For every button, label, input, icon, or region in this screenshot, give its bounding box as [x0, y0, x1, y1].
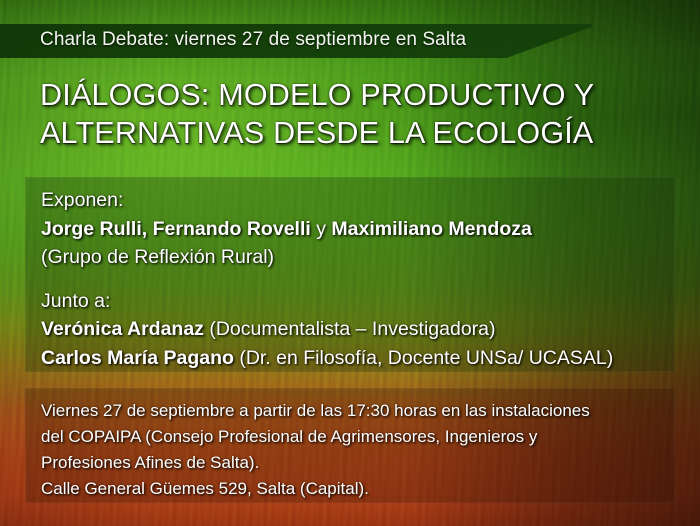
event-poster: Charla Debate: viernes 27 de septiembre … [0, 0, 700, 526]
header-subtitle: Charla Debate: viernes 27 de septiembre … [40, 29, 466, 51]
guest-row-1: Verónica Ardanaz (Documentalista – Inves… [41, 315, 666, 344]
guests-label: Junto a: [41, 287, 666, 316]
speakers-names-row: Jorge Rulli, Fernando Rovelli y Maximili… [41, 215, 666, 244]
speaker-names-primary: Jorge Rulli, Fernando Rovelli [41, 218, 311, 240]
speaker-names-conjunction: y [311, 218, 332, 240]
venue-section: Viernes 27 de septiembre a partir de las… [41, 398, 661, 502]
guest-2-name: Carlos María Pagano [41, 347, 234, 369]
page-title-line-2: ALTERNATIVAS DESDE LA ECOLOGÍA [40, 114, 680, 152]
speakers-spacer [41, 272, 666, 287]
venue-line-2: del COPAIPA (Consejo Profesional de Agri… [41, 424, 661, 450]
speakers-affiliation: (Grupo de Reflexión Rural) [41, 243, 666, 272]
guest-1-role: (Documentalista – Investigadora) [204, 318, 496, 340]
venue-line-1: Viernes 27 de septiembre a partir de las… [41, 398, 661, 424]
page-title-line-1: DIÁLOGOS: MODELO PRODUCTIVO Y [40, 76, 680, 114]
speakers-label: Exponen: [41, 186, 666, 215]
venue-line-3: Profesiones Afines de Salta). [41, 450, 661, 476]
guest-row-2: Carlos María Pagano (Dr. en Filosofía, D… [41, 344, 666, 373]
guest-2-role: (Dr. en Filosofía, Docente UNSa/ UCASAL) [234, 347, 613, 369]
guest-1-name: Verónica Ardanaz [41, 318, 204, 340]
page-title: DIÁLOGOS: MODELO PRODUCTIVO Y ALTERNATIV… [40, 76, 680, 152]
venue-address: Calle General Güemes 529, Salta (Capital… [41, 476, 661, 502]
speakers-section: Exponen: Jorge Rulli, Fernando Rovelli y… [41, 186, 666, 372]
speaker-name-third: Maximiliano Mendoza [331, 218, 531, 240]
